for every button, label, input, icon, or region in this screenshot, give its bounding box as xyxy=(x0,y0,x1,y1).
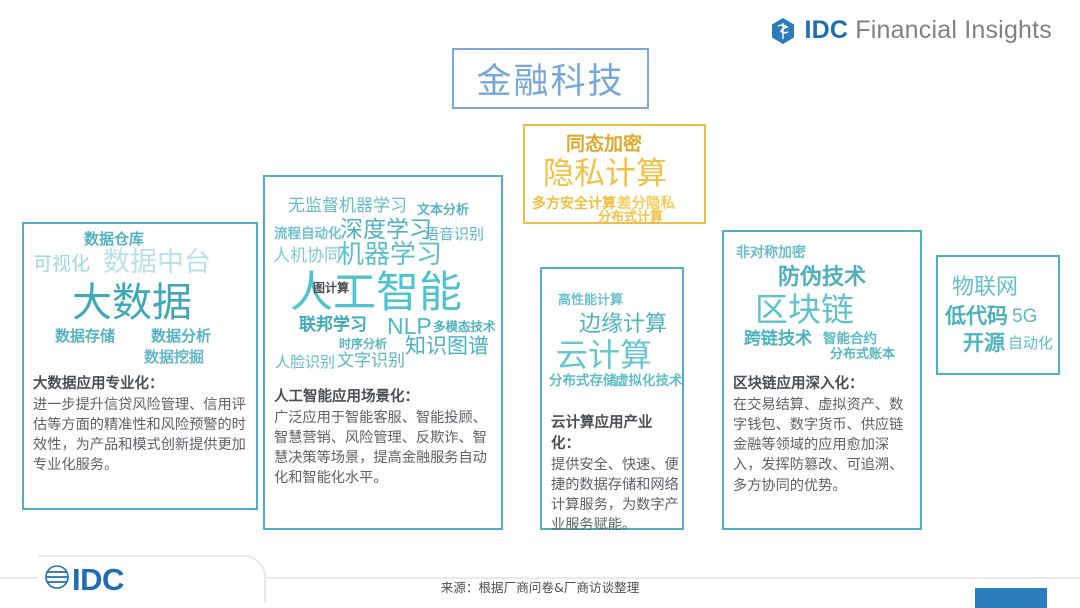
panel-cloud-text: 云计算应用产业化： 提供安全、快速、便捷的数据存储和网络计算服务，为数字产业服务… xyxy=(551,411,679,536)
cloud-term: 高性能计算 xyxy=(558,294,623,307)
wordcloud-iot: 物联网 低代码 5G 开源 自动化 xyxy=(938,257,1058,373)
source-note: 来源：根据厂商问卷&厂商访谈整理 xyxy=(0,577,1080,596)
cloud-term: 图计算 xyxy=(313,282,349,294)
wordcloud-privacy: 同态加密 隐私计算 多方安全计算 差分隐私 分布式计算 xyxy=(525,126,704,222)
wordcloud-bigdata: 数据仓库 可视化 数据中台 大数据 数据存储 数据分析 数据挖掘 xyxy=(24,224,256,374)
brand-lockup: IDC Financial Insights xyxy=(770,17,1052,43)
cloud-term: 分布式账本 xyxy=(830,348,895,361)
cloud-term: 开源 xyxy=(963,333,1005,354)
cloud-term: 隐私计算 xyxy=(543,159,667,190)
panel-blockchain-heading: 区块链应用深入化： xyxy=(733,372,917,393)
panel-bigdata-heading: 大数据应用专业化： xyxy=(33,372,251,393)
cloud-term: 同态加密 xyxy=(566,135,642,154)
panel-iot: 物联网 低代码 5G 开源 自动化 xyxy=(936,255,1060,375)
cloud-term: 边缘计算 xyxy=(579,314,667,336)
panel-blockchain-body: 在交易结算、虚拟资产、数字钱包、数字货币、供应链金融等领域的应用愈加深入，发挥防… xyxy=(733,395,917,496)
cloud-term: 数据中台 xyxy=(103,249,211,276)
slide-canvas: IDC Financial Insights 金融科技 数据仓库 可视化 数据中… xyxy=(0,0,1080,608)
brand-name: IDC xyxy=(804,16,848,44)
wordcloud-cloud: 高性能计算 边缘计算 云计算 分布式存储 虚拟化技术 xyxy=(542,269,682,389)
panel-blockchain: 非对称加密 防伪技术 区块链 跨链技术 智能合约 分布式账本 区块链应用深入化：… xyxy=(722,230,922,530)
cloud-term: 大数据 xyxy=(72,283,192,323)
cloud-term: 数据挖掘 xyxy=(144,350,204,365)
cloud-term: 数据存储 xyxy=(55,329,115,344)
cloud-term: 虚拟化技术 xyxy=(615,375,683,389)
cloud-term: 非对称加密 xyxy=(736,246,806,260)
page-title: 金融科技 xyxy=(452,48,649,109)
cloud-term: 人脸识别 xyxy=(275,355,335,370)
cloud-term: 文本分析 xyxy=(417,204,469,217)
cloud-term: 5G xyxy=(1012,307,1037,326)
corner-accent-block xyxy=(975,588,1047,608)
brand-suffix: Financial Insights xyxy=(848,16,1052,44)
cloud-term: 深度学习 xyxy=(340,219,432,242)
page-title-text: 金融科技 xyxy=(476,53,624,104)
panel-bigdata: 数据仓库 可视化 数据中台 大数据 数据存储 数据分析 数据挖掘 大数据应用专业… xyxy=(22,222,258,510)
cloud-term: 机器学习 xyxy=(338,242,442,268)
panel-ai-text: 人工智能应用场景化： 广泛应用于智能客服、智能投顾、智慧营销、风险管理、反欺诈、… xyxy=(274,385,498,489)
idc-hexagon-logo-icon xyxy=(770,17,794,43)
cloud-term: 多模态技术 xyxy=(433,321,496,334)
panel-blockchain-text: 区块链应用深入化： 在交易结算、虚拟资产、数字钱包、数字货币、供应链金融等领域的… xyxy=(733,372,917,496)
panel-ai-body: 广泛应用于智能客服、智能投顾、智慧营销、风险管理、反欺诈、智慧决策等场景，提高金… xyxy=(274,408,498,489)
panel-ai: 无监督机器学习 文本分析 流程自动化 深度学习 语音识别 人机协同 机器学习 人… xyxy=(263,175,503,530)
cloud-term: 自动化 xyxy=(1008,336,1053,351)
cloud-term: 时序分析 xyxy=(339,338,387,350)
cloud-term: 区块链 xyxy=(755,293,854,326)
panel-cloud-computing: 高性能计算 边缘计算 云计算 分布式存储 虚拟化技术 云计算应用产业化： 提供安… xyxy=(540,267,684,530)
panel-bigdata-body: 进一步提升信贷风险管理、信用评估等方面的精准性和风险预警的时效性，为产品和模式创… xyxy=(33,395,251,476)
cloud-term: 人机协同 xyxy=(273,248,341,265)
cloud-term: 低代码 xyxy=(945,306,1008,327)
panel-cloud-heading: 云计算应用产业化： xyxy=(551,411,679,453)
cloud-term: 跨链技术 xyxy=(744,331,812,348)
brand-title: IDC Financial Insights xyxy=(804,18,1052,43)
cloud-term: 数据分析 xyxy=(151,329,211,344)
wordcloud-blockchain: 非对称加密 防伪技术 区块链 跨链技术 智能合约 分布式账本 xyxy=(724,232,920,360)
panel-cloud-body: 提供安全、快速、便捷的数据存储和网络计算服务，为数字产业服务赋能。 xyxy=(551,455,679,536)
cloud-term: 分布式计算 xyxy=(598,211,663,224)
cloud-term: 流程自动化 xyxy=(274,228,342,242)
cloud-term: 分布式存储 xyxy=(549,375,617,389)
cloud-term: 无监督机器学习 xyxy=(288,198,407,215)
cloud-term: 联邦学习 xyxy=(299,317,367,334)
cloud-term: 知识图谱 xyxy=(405,336,489,357)
panel-privacy-computing: 同态加密 隐私计算 多方安全计算 差分隐私 分布式计算 xyxy=(523,124,706,224)
cloud-term: 可视化 xyxy=(33,255,90,274)
cloud-term: 多方安全计算 xyxy=(532,197,616,211)
panel-bigdata-text: 大数据应用专业化： 进一步提升信贷风险管理、信用评估等方面的精准性和风险预警的时… xyxy=(33,372,251,476)
cloud-term: 文字识别 xyxy=(337,353,405,370)
wordcloud-ai: 无监督机器学习 文本分析 流程自动化 深度学习 语音识别 人机协同 机器学习 人… xyxy=(265,177,501,377)
panel-ai-heading: 人工智能应用场景化： xyxy=(274,385,498,406)
cloud-term: 云计算 xyxy=(556,339,652,371)
cloud-term: 数据仓库 xyxy=(84,232,144,247)
cloud-term: 物联网 xyxy=(952,277,1018,299)
cloud-term: 防伪技术 xyxy=(778,267,866,289)
cloud-term: 智能合约 xyxy=(823,333,877,347)
